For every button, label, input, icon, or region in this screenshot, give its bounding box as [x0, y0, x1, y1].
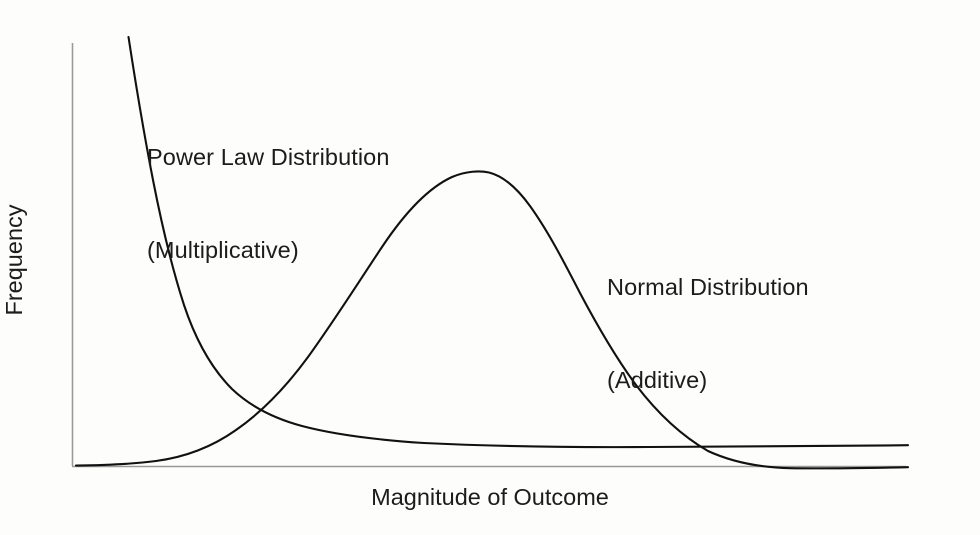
normal-label-line2: (Additive): [607, 365, 809, 396]
x-axis-label: Magnitude of Outcome: [0, 483, 980, 511]
power-law-label: Power Law Distribution (Multiplicative): [147, 80, 390, 328]
power-law-label-line2: (Multiplicative): [147, 235, 390, 266]
power-law-label-line1: Power Law Distribution: [147, 142, 390, 173]
normal-distribution-label: Normal Distribution (Additive): [607, 210, 809, 458]
chart-canvas: Power Law Distribution (Multiplicative) …: [0, 0, 980, 535]
y-axis-label: Frequency: [0, 170, 28, 350]
normal-label-line1: Normal Distribution: [607, 272, 809, 303]
